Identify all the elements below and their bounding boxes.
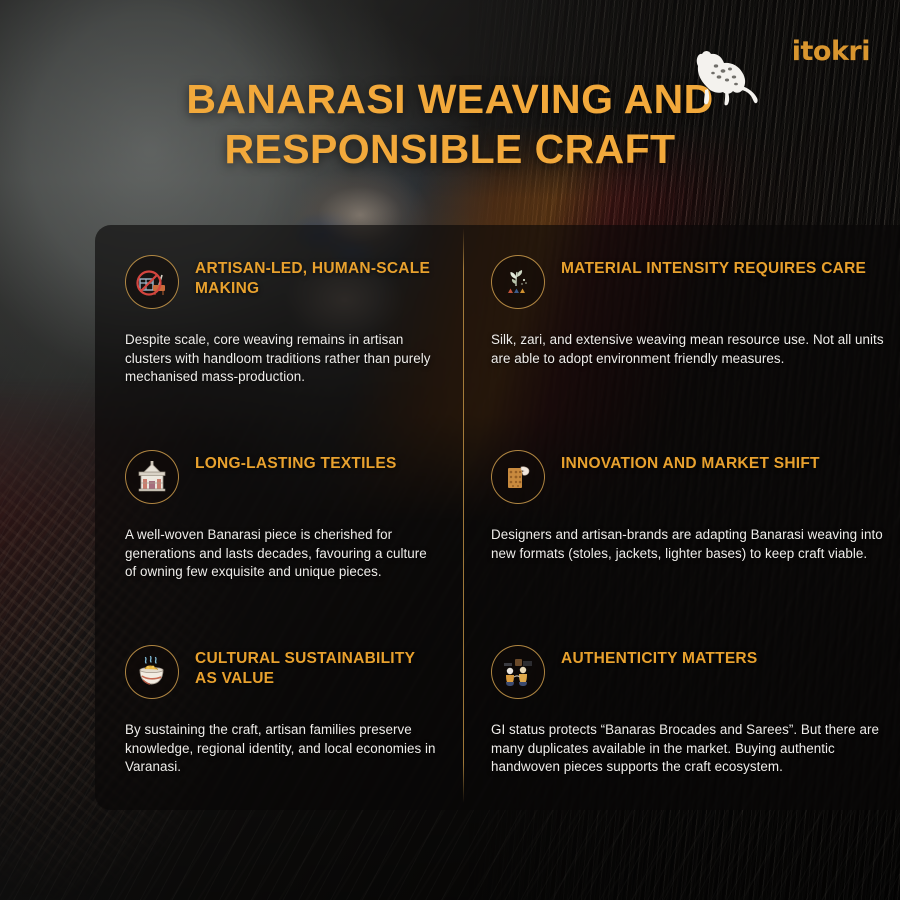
steaming-pot-icon	[125, 645, 179, 699]
brand-logo[interactable]: itokri	[792, 36, 870, 67]
card-title: MATERIAL INTENSITY REQUIRES CARE	[561, 253, 866, 279]
infographic-poster: itokri BANARASI WEAVING AND RESPONSIBLE …	[0, 0, 900, 900]
page-title: BANARASI WEAVING AND RESPONSIBLE CRAFT	[130, 74, 770, 174]
heritage-building-icon	[125, 450, 179, 504]
no-machine-loom-icon	[125, 255, 179, 309]
card-title: AUTHENTICITY MATTERS	[561, 643, 757, 669]
card-body: Designers and artisan-brands are adaptin…	[491, 526, 900, 563]
card-artisan-led: ARTISAN-LED, HUMAN-SCALE MAKING Despite …	[95, 225, 463, 420]
cards-grid: ARTISAN-LED, HUMAN-SCALE MAKING Despite …	[95, 225, 900, 810]
card-long-lasting-textiles: LONG-LASTING TEXTILES A well-woven Banar…	[95, 420, 463, 615]
card-body: Silk, zari, and extensive weaving mean r…	[491, 331, 900, 368]
card-header: INNOVATION AND MARKET SHIFT	[491, 448, 900, 504]
leopard-mascot-icon	[686, 46, 764, 108]
brocade-fabric-hand-icon	[491, 450, 545, 504]
card-header: LONG-LASTING TEXTILES	[125, 448, 439, 504]
card-title: INNOVATION AND MARKET SHIFT	[561, 448, 820, 474]
artisans-seated-icon	[491, 645, 545, 699]
card-header: MATERIAL INTENSITY REQUIRES CARE	[491, 253, 900, 309]
card-body: A well-woven Banarasi piece is cherished…	[125, 526, 439, 582]
card-body: Despite scale, core weaving remains in a…	[125, 331, 439, 387]
card-header: ARTISAN-LED, HUMAN-SCALE MAKING	[125, 253, 439, 309]
card-body: By sustaining the craft, artisan familie…	[125, 721, 439, 777]
card-cultural-sustainability: CULTURAL SUSTAINABILITY AS VALUE By sust…	[95, 615, 463, 810]
plant-sprout-dyes-icon	[491, 255, 545, 309]
card-innovation-market-shift: INNOVATION AND MARKET SHIFT Designers an…	[463, 420, 900, 615]
card-material-intensity: MATERIAL INTENSITY REQUIRES CARE Silk, z…	[463, 225, 900, 420]
poster-header: BANARASI WEAVING AND RESPONSIBLE CRAFT	[0, 0, 900, 174]
card-header: CULTURAL SUSTAINABILITY AS VALUE	[125, 643, 439, 699]
card-header: AUTHENTICITY MATTERS	[491, 643, 900, 699]
card-title: ARTISAN-LED, HUMAN-SCALE MAKING	[195, 253, 439, 299]
card-authenticity-matters: AUTHENTICITY MATTERS GI status protects …	[463, 615, 900, 810]
card-title: CULTURAL SUSTAINABILITY AS VALUE	[195, 643, 439, 689]
card-title: LONG-LASTING TEXTILES	[195, 448, 397, 474]
card-body: GI status protects “Banaras Brocades and…	[491, 721, 900, 777]
